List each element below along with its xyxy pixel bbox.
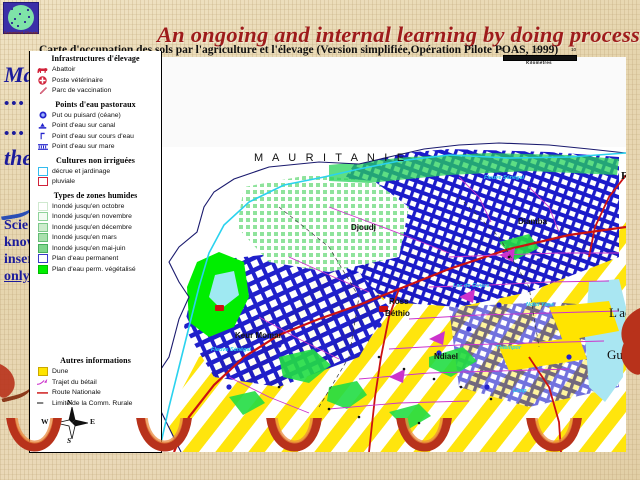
swatch-icon: [37, 223, 48, 232]
legend-label: Inondé jusqu'en novembre: [52, 212, 132, 221]
globe-icon: [8, 5, 34, 30]
scale-ticks: 0 5 10: [497, 47, 583, 54]
swatch-icon: [37, 233, 48, 242]
logo-caption: Committed Climate: [1, 31, 41, 35]
legend-label: Parc de vaccination: [52, 86, 111, 95]
legend-label: Abattoir: [52, 65, 75, 74]
legend-item-vaccination-park[interactable]: Parc de vaccination: [30, 86, 161, 97]
decorative-bottom-border: [0, 418, 640, 480]
scale-unit-label: Kilomètres: [503, 60, 575, 65]
map-label: Thiempor: [496, 345, 521, 351]
swatch-icon: [37, 244, 48, 253]
swatch-icon: [37, 265, 48, 274]
legend-label: Inondé jusqu'en mars: [52, 233, 117, 242]
swatch-icon: [37, 167, 48, 176]
legend-item-dune[interactable]: Dune: [30, 367, 161, 378]
map-label: Diamba: [518, 217, 547, 226]
legend-label: Point d'eau sur cours d'eau: [52, 132, 134, 141]
map-label: Fleuve Sénégal: [484, 175, 524, 181]
map-label: M A U R I T A N I E: [254, 152, 407, 164]
legend-item-flooded-may-june[interactable]: Inondé jusqu'en mai-juin: [30, 244, 161, 255]
legend-item-flooded-november[interactable]: Inondé jusqu'en novembre: [30, 212, 161, 223]
body-text-line-3: •••: [4, 126, 26, 143]
legend-label: Plan d'eau permanent: [52, 254, 118, 263]
legend-label: Trajet du bétail: [52, 378, 97, 387]
map-label: Ross: [389, 297, 409, 306]
dune-swatch-icon: [37, 367, 48, 376]
legend-label: Route Nationale: [52, 388, 101, 397]
legend-item-pluviale[interactable]: pluviale: [30, 177, 161, 188]
legend-heading-livestock: Infrastructures d'élevage: [30, 51, 161, 65]
map-label: Loop: [513, 388, 526, 394]
legend-heading-waterpoints: Points d'eau pastoraux: [30, 97, 161, 111]
legend-label: Point d'eau sur canal: [52, 121, 115, 130]
legend-item-stream-waterpoint[interactable]: Point d'eau sur cours d'eau: [30, 132, 161, 143]
legend-label: pluviale: [52, 177, 75, 186]
legend-item-pond-waterpoint[interactable]: Point d'eau sur mare: [30, 142, 161, 153]
legend-item-permanent-water[interactable]: Plan d'eau permanent: [30, 254, 161, 265]
body-text-line-2: •••: [4, 96, 26, 113]
swatch-icon: [37, 202, 48, 211]
legend-label: Put ou puisard (céane): [52, 111, 121, 120]
map-label: Rosso: [621, 170, 626, 182]
scale-tick-1: 5: [536, 47, 539, 52]
compass-north: N: [67, 398, 72, 407]
legend-item-flooded-october[interactable]: Inondé jusqu'en octobre: [30, 202, 161, 213]
legend-item-veterinary-post[interactable]: Poste vétérinaire: [30, 76, 161, 87]
map-scale-bar: 0 5 10 Kilomètres: [497, 47, 583, 69]
map-legend[interactable]: Infrastructures d'élevage Abattoir Poste…: [29, 51, 162, 362]
organization-logo: [3, 2, 39, 34]
legend-heading-wetlands: Types de zones humides: [30, 188, 161, 202]
legend-item-canal-waterpoint[interactable]: Point d'eau sur canal: [30, 121, 161, 132]
swatch-icon: [37, 254, 48, 263]
legend-heading-other-info: Autres informations: [30, 353, 161, 367]
legend-label: Plan d'eau perm. végétalisé: [52, 265, 136, 274]
legend-label: Point d'eau sur mare: [52, 142, 115, 151]
well-icon: [37, 111, 48, 120]
pond-icon: [37, 142, 48, 151]
legend-item-national-road[interactable]: Route Nationale: [30, 388, 161, 399]
arrow-icon: [37, 378, 48, 387]
legend-item-cattle-route[interactable]: Trajet du bétail: [30, 378, 161, 389]
decorative-leaf-right: [614, 306, 640, 376]
legend-heading-rainfed-crops: Cultures non irriguées: [30, 153, 161, 167]
swatch-icon: [37, 212, 48, 221]
body-text-line-5: Scie: [4, 218, 28, 234]
legend-label: Inondé jusqu'en décembre: [52, 223, 132, 232]
legend-item-flooded-december[interactable]: Inondé jusqu'en décembre: [30, 223, 161, 234]
map-label: Keur Momar: [235, 331, 282, 340]
map-label: Ndiael: [434, 352, 458, 361]
decorative-leaf-left: [0, 360, 22, 400]
legend-item-permanent-vegetated-water[interactable]: Plan d'eau perm. végétalisé: [30, 265, 161, 276]
legend-label: Inondé jusqu'en octobre: [52, 202, 124, 211]
legend-item-decrue-jardinage[interactable]: décrue et jardinage: [30, 167, 161, 178]
scale-tick-0: 0: [501, 47, 504, 52]
map-label: Ndiel Yana: [526, 302, 554, 308]
stream-icon: [37, 132, 48, 141]
legend-label: décrue et jardinage: [52, 167, 110, 176]
body-text-line-8: only: [4, 269, 30, 285]
canal-icon: [37, 121, 48, 130]
line-icon: [37, 388, 48, 397]
map-label: Lac de Guiers: [453, 283, 489, 289]
legend-item-well[interactable]: Put ou puisard (céane): [30, 111, 161, 122]
legend-label: Inondé jusqu'en mai-juin: [52, 244, 125, 253]
legend-item-flooded-march[interactable]: Inondé jusqu'en mars: [30, 233, 161, 244]
swatch-icon: [37, 177, 48, 186]
syringe-icon: [37, 86, 48, 95]
cow-icon: [37, 65, 48, 74]
scale-tick-2: 10: [571, 47, 576, 52]
map-label: Béthio: [385, 309, 410, 318]
legend-item-abattoir[interactable]: Abattoir: [30, 65, 161, 76]
map-label: Djoudj: [351, 223, 376, 232]
legend-label: Dune: [52, 367, 68, 376]
body-text-line-4: the: [4, 145, 32, 171]
red-cross-icon: [37, 76, 48, 85]
map-label: Fleuve Sénégal: [211, 347, 251, 353]
legend-label: Poste vétérinaire: [52, 76, 103, 85]
